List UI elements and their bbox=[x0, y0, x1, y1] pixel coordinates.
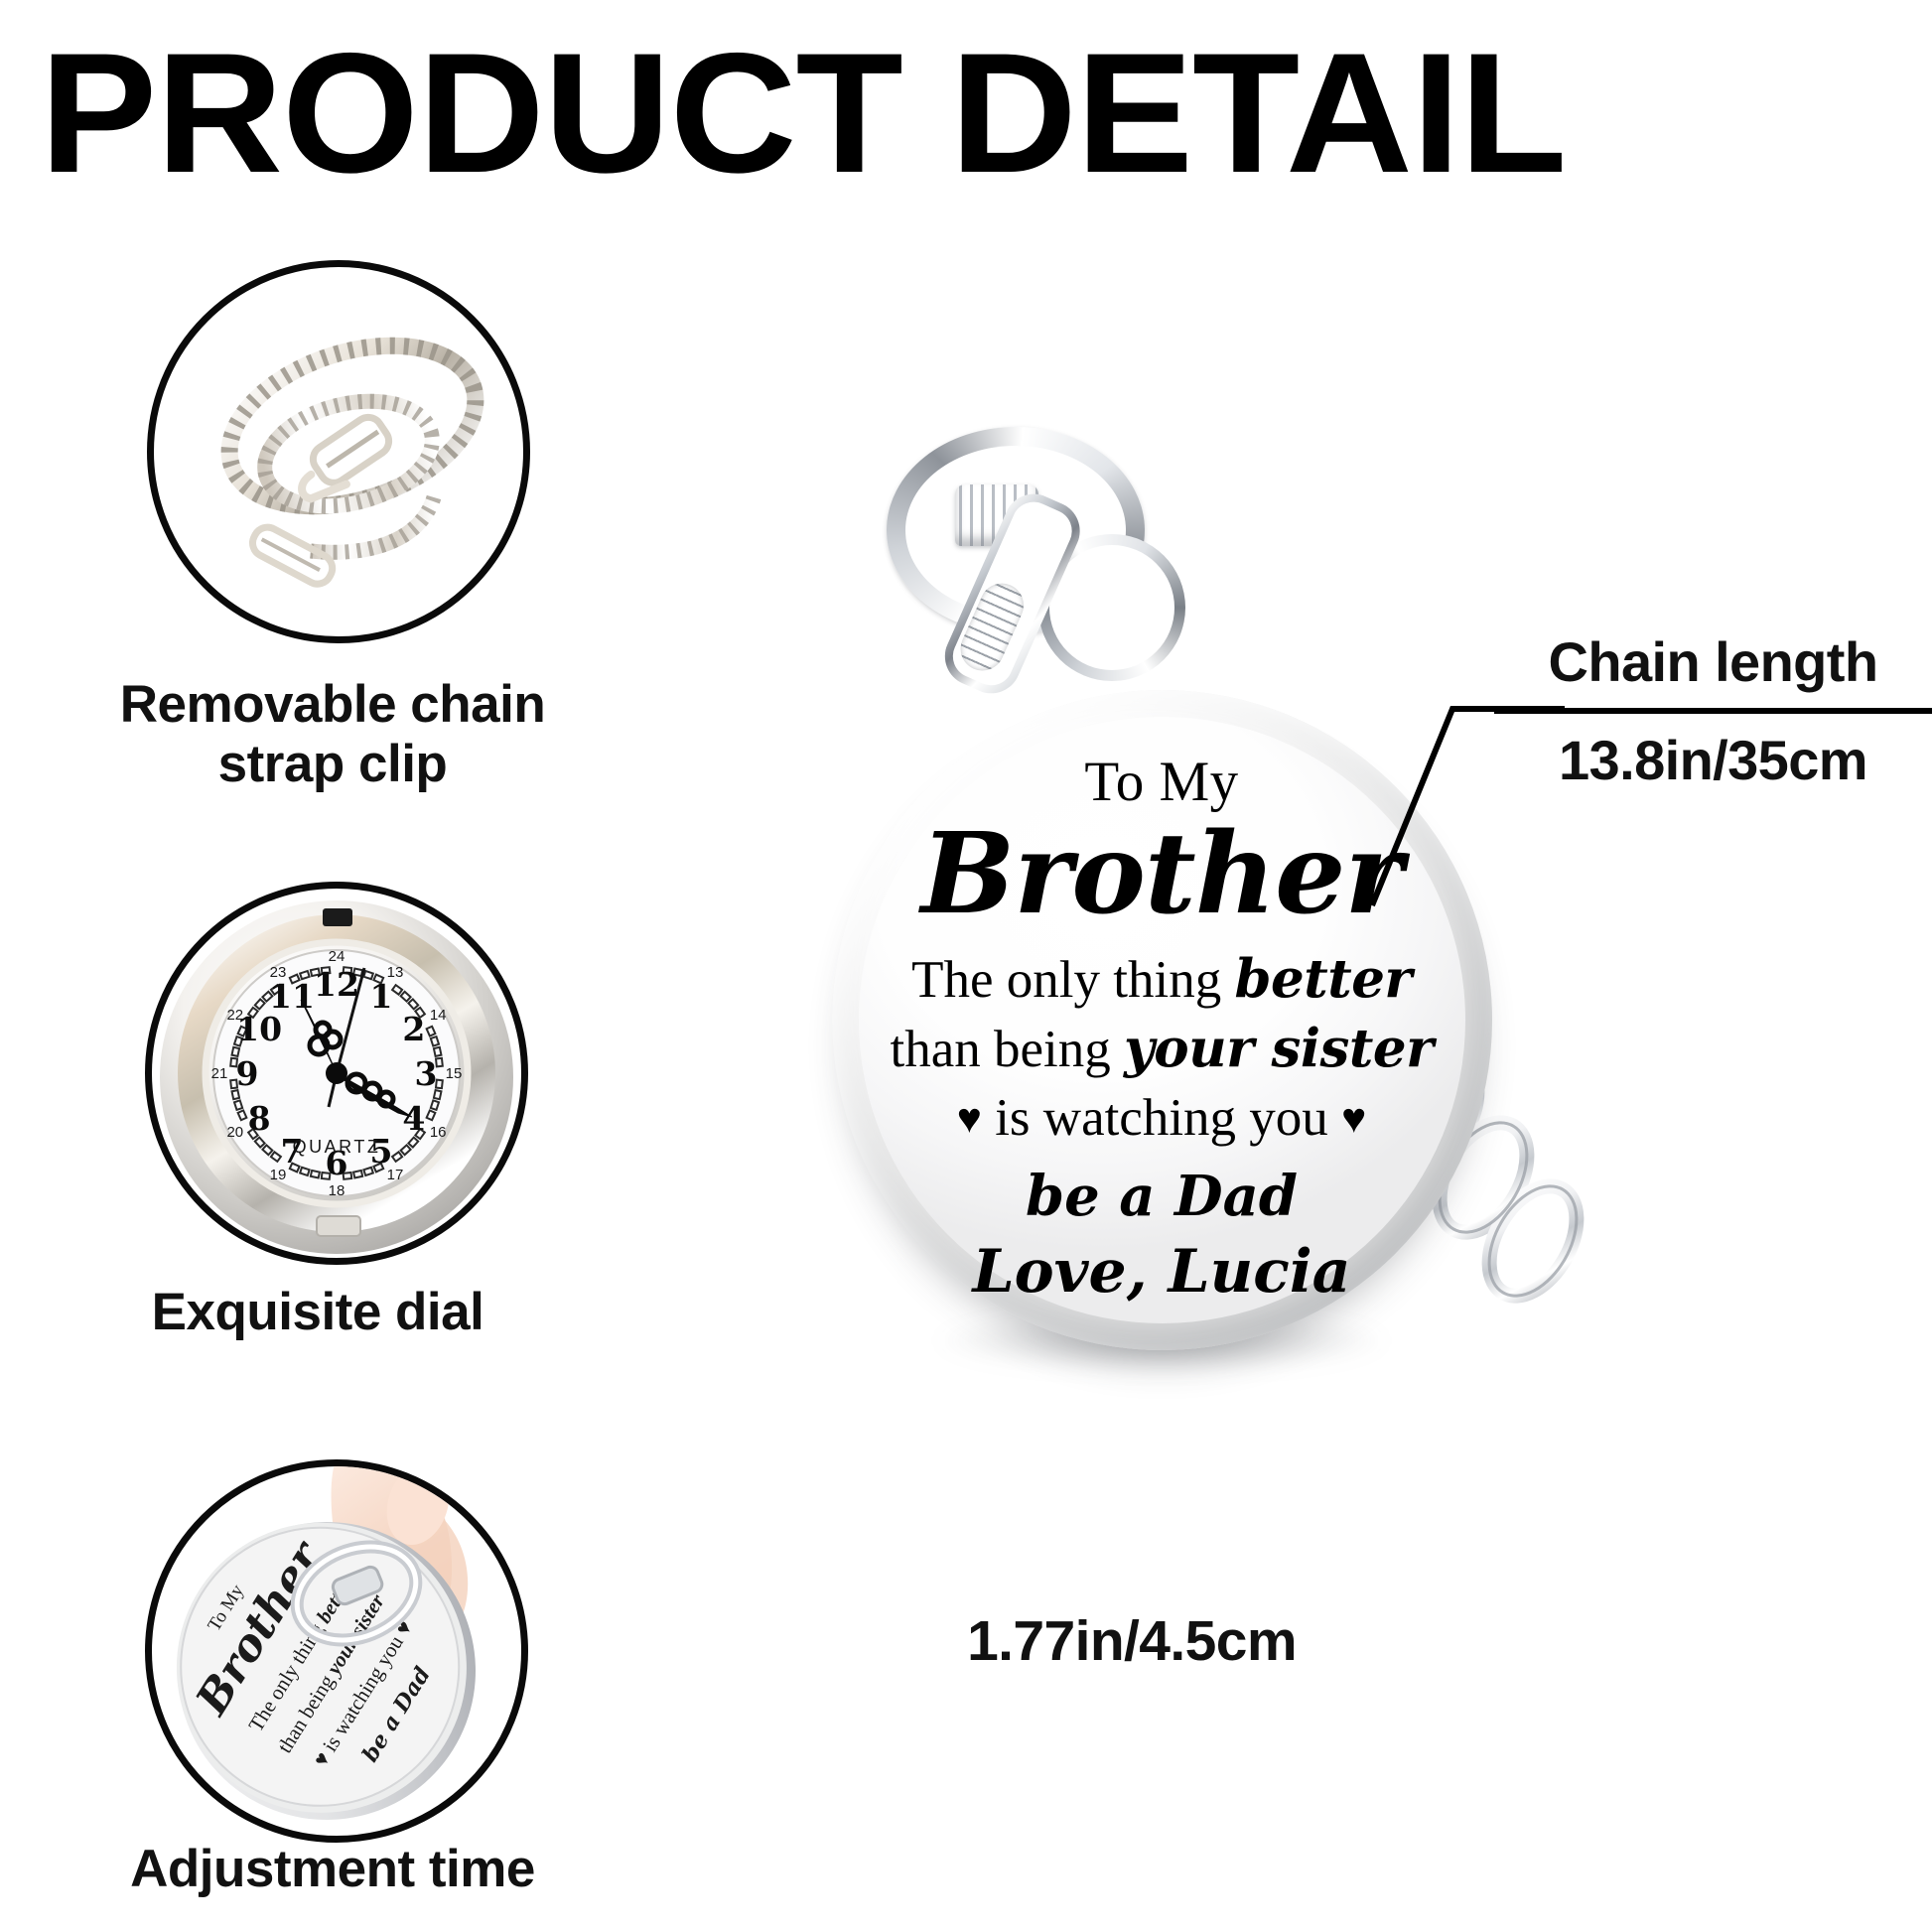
callout-diameter-value: 1.77in/4.5cm bbox=[784, 1608, 1479, 1674]
dial-24h-numeral: 20 bbox=[226, 1124, 243, 1141]
feature-chain-clip-label: Removable chain strap clip bbox=[10, 675, 655, 795]
watch-dial-icon: 121234567891011 241314151617181920212223… bbox=[152, 889, 521, 1258]
hand-holding-watch-icon: To My Brother The only thing better than… bbox=[152, 1466, 521, 1836]
feature-adjust-thumbnail: To My Brother The only thing better than… bbox=[145, 1459, 528, 1843]
engraving-line2-emphasis: your sister bbox=[1124, 1018, 1434, 1079]
dial-24h-numeral: 13 bbox=[387, 964, 404, 981]
callout-chain-length-value: 13.8in/35cm bbox=[1494, 732, 1932, 790]
dial-hour-numeral: 11 bbox=[269, 977, 315, 1016]
callout-chain-length: Chain length 13.8in/35cm bbox=[1494, 633, 1932, 790]
callout-divider bbox=[1494, 708, 1932, 714]
dial-hour-numeral: 3 bbox=[415, 1054, 438, 1093]
engraving-signature: Love, Lucia bbox=[884, 1236, 1440, 1308]
dial-hour-numeral: 9 bbox=[236, 1054, 259, 1093]
heart-icon-right: ♥ bbox=[1341, 1096, 1366, 1143]
engraving-line3-text: is watching you bbox=[982, 1089, 1341, 1147]
feature-dial-label: Exquisite dial bbox=[10, 1283, 625, 1342]
dial-hour-numeral: 12 bbox=[314, 965, 359, 1004]
engraving-salutation: To My bbox=[884, 753, 1440, 811]
engraving-line1-plain: The only thing bbox=[911, 951, 1234, 1009]
engraving-line2-plain: than being bbox=[891, 1021, 1125, 1078]
dial-hour-numeral: 8 bbox=[248, 1099, 271, 1138]
feature-label-line1: Removable chain bbox=[120, 675, 545, 734]
feature-label-line2: strap clip bbox=[218, 735, 448, 793]
engraving-recipient: Brother bbox=[884, 813, 1440, 935]
product-detail-page: PRODUCT DETAIL bbox=[0, 0, 1932, 1932]
page-title: PRODUCT DETAIL bbox=[40, 28, 1932, 199]
dial-hour-numeral: 4 bbox=[402, 1099, 425, 1138]
engraving-line-1: The only thing better bbox=[884, 945, 1440, 1015]
feature-chain-clip-thumbnail bbox=[147, 260, 530, 643]
watch-engraving-text: To My Brother The only thing better than… bbox=[884, 753, 1440, 1308]
engraving-line-3: ♥ is watching you ♥ bbox=[884, 1084, 1440, 1153]
engraving-line-2: than being your sister bbox=[884, 1015, 1440, 1084]
feature-dial-thumbnail: 121234567891011 241314151617181920212223… bbox=[145, 882, 528, 1265]
dial-24h-numeral: 19 bbox=[270, 1167, 287, 1183]
feature-adjust-label: Adjustment time bbox=[10, 1840, 655, 1899]
dial-24h-numeral: 22 bbox=[226, 1007, 243, 1024]
main-watch-product-image: To My Brother The only thing better than… bbox=[774, 427, 1932, 1539]
dial-hour-numeral: 2 bbox=[402, 1010, 425, 1048]
dial-24h-numeral: 15 bbox=[446, 1065, 463, 1082]
dial-24h-numeral: 16 bbox=[430, 1124, 447, 1141]
dial-24h-numeral: 14 bbox=[430, 1007, 447, 1024]
dial-brand-text: QUARTZ bbox=[293, 1137, 381, 1157]
dial-24h-numeral: 17 bbox=[387, 1167, 404, 1183]
chain-coil-icon bbox=[154, 267, 523, 636]
dial-24h-numeral: 23 bbox=[270, 964, 287, 981]
dial-hour-numeral: 1 bbox=[370, 977, 393, 1016]
engraving-line-4: be a Dad bbox=[884, 1163, 1440, 1230]
callout-chain-length-title: Chain length bbox=[1494, 633, 1932, 692]
dial-24h-numeral: 18 bbox=[329, 1182, 345, 1199]
dial-24h-numeral: 24 bbox=[329, 948, 345, 965]
engraving-line1-emphasis: better bbox=[1234, 948, 1411, 1010]
heart-icon-left: ♥ bbox=[957, 1096, 982, 1143]
dial-24h-numeral: 21 bbox=[211, 1065, 228, 1082]
feature-label-line1: Adjustment time bbox=[130, 1840, 535, 1898]
feature-label-line1: Exquisite dial bbox=[152, 1283, 484, 1341]
